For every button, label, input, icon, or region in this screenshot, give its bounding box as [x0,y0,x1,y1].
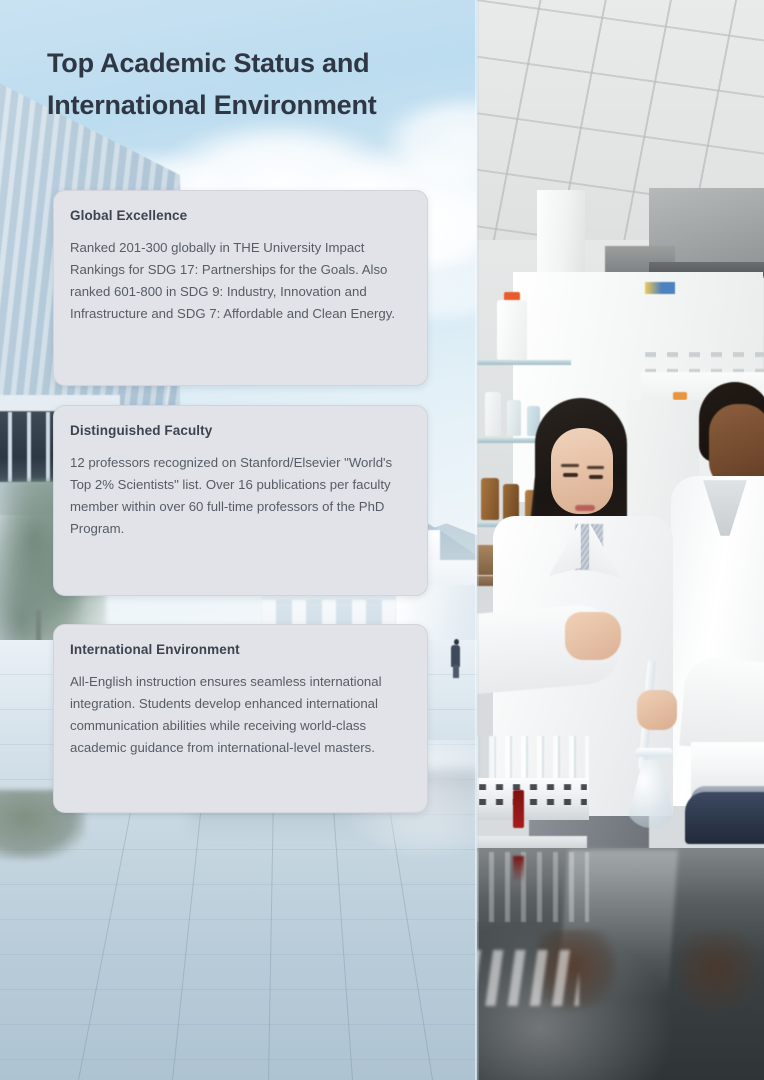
info-card-global-excellence: Global Excellence Ranked 201-300 globall… [53,190,428,386]
amber-reagent-bottle [503,484,519,520]
bench-reflection [677,930,763,1016]
page-title: Top Academic Status and International En… [47,43,447,127]
eye [563,473,578,477]
female-researcher-face [551,428,613,514]
female-researcher-hand [637,690,677,730]
male-researcher-arm [679,656,764,754]
amber-reagent-bottle [481,478,499,520]
slide: Top Academic Status and International En… [0,0,764,1080]
lips [575,505,595,511]
bench-light-reflection [477,950,579,1006]
reagent-bottle [485,392,501,436]
reagent-bottle [507,400,521,436]
eyebrow [561,464,579,467]
card-title: Distinguished Faculty [70,423,411,438]
card-body: Ranked 201-300 globally in THE Universit… [70,237,411,325]
info-card-distinguished-faculty: Distinguished Faculty 12 professors reco… [53,405,428,596]
eyebrow [587,466,604,469]
content-overlay: Top Academic Status and International En… [0,0,477,1080]
test-tube-rack-holes [479,784,587,812]
test-tubes [477,736,589,782]
info-card-international-environment: International Environment All-English in… [53,624,428,813]
red-sample-tube [513,790,524,828]
laboratory-photo [477,0,764,1080]
eye [589,475,603,479]
reagent-bottle [497,300,527,360]
flask-rim [635,748,673,757]
bench-reflection [513,856,524,882]
card-body: 12 professors recognized on Stanford/Els… [70,452,411,540]
card-body: All-English instruction ensures seamless… [70,671,411,759]
card-title: International Environment [70,642,411,657]
card-title: Global Excellence [70,208,411,223]
glass-shelf [477,360,571,365]
cabinet-handle [673,392,687,400]
equipment-warning-label [645,282,675,294]
lab-instrument [685,792,764,844]
bench-reflection [477,852,589,922]
female-researcher-hand [565,612,621,660]
